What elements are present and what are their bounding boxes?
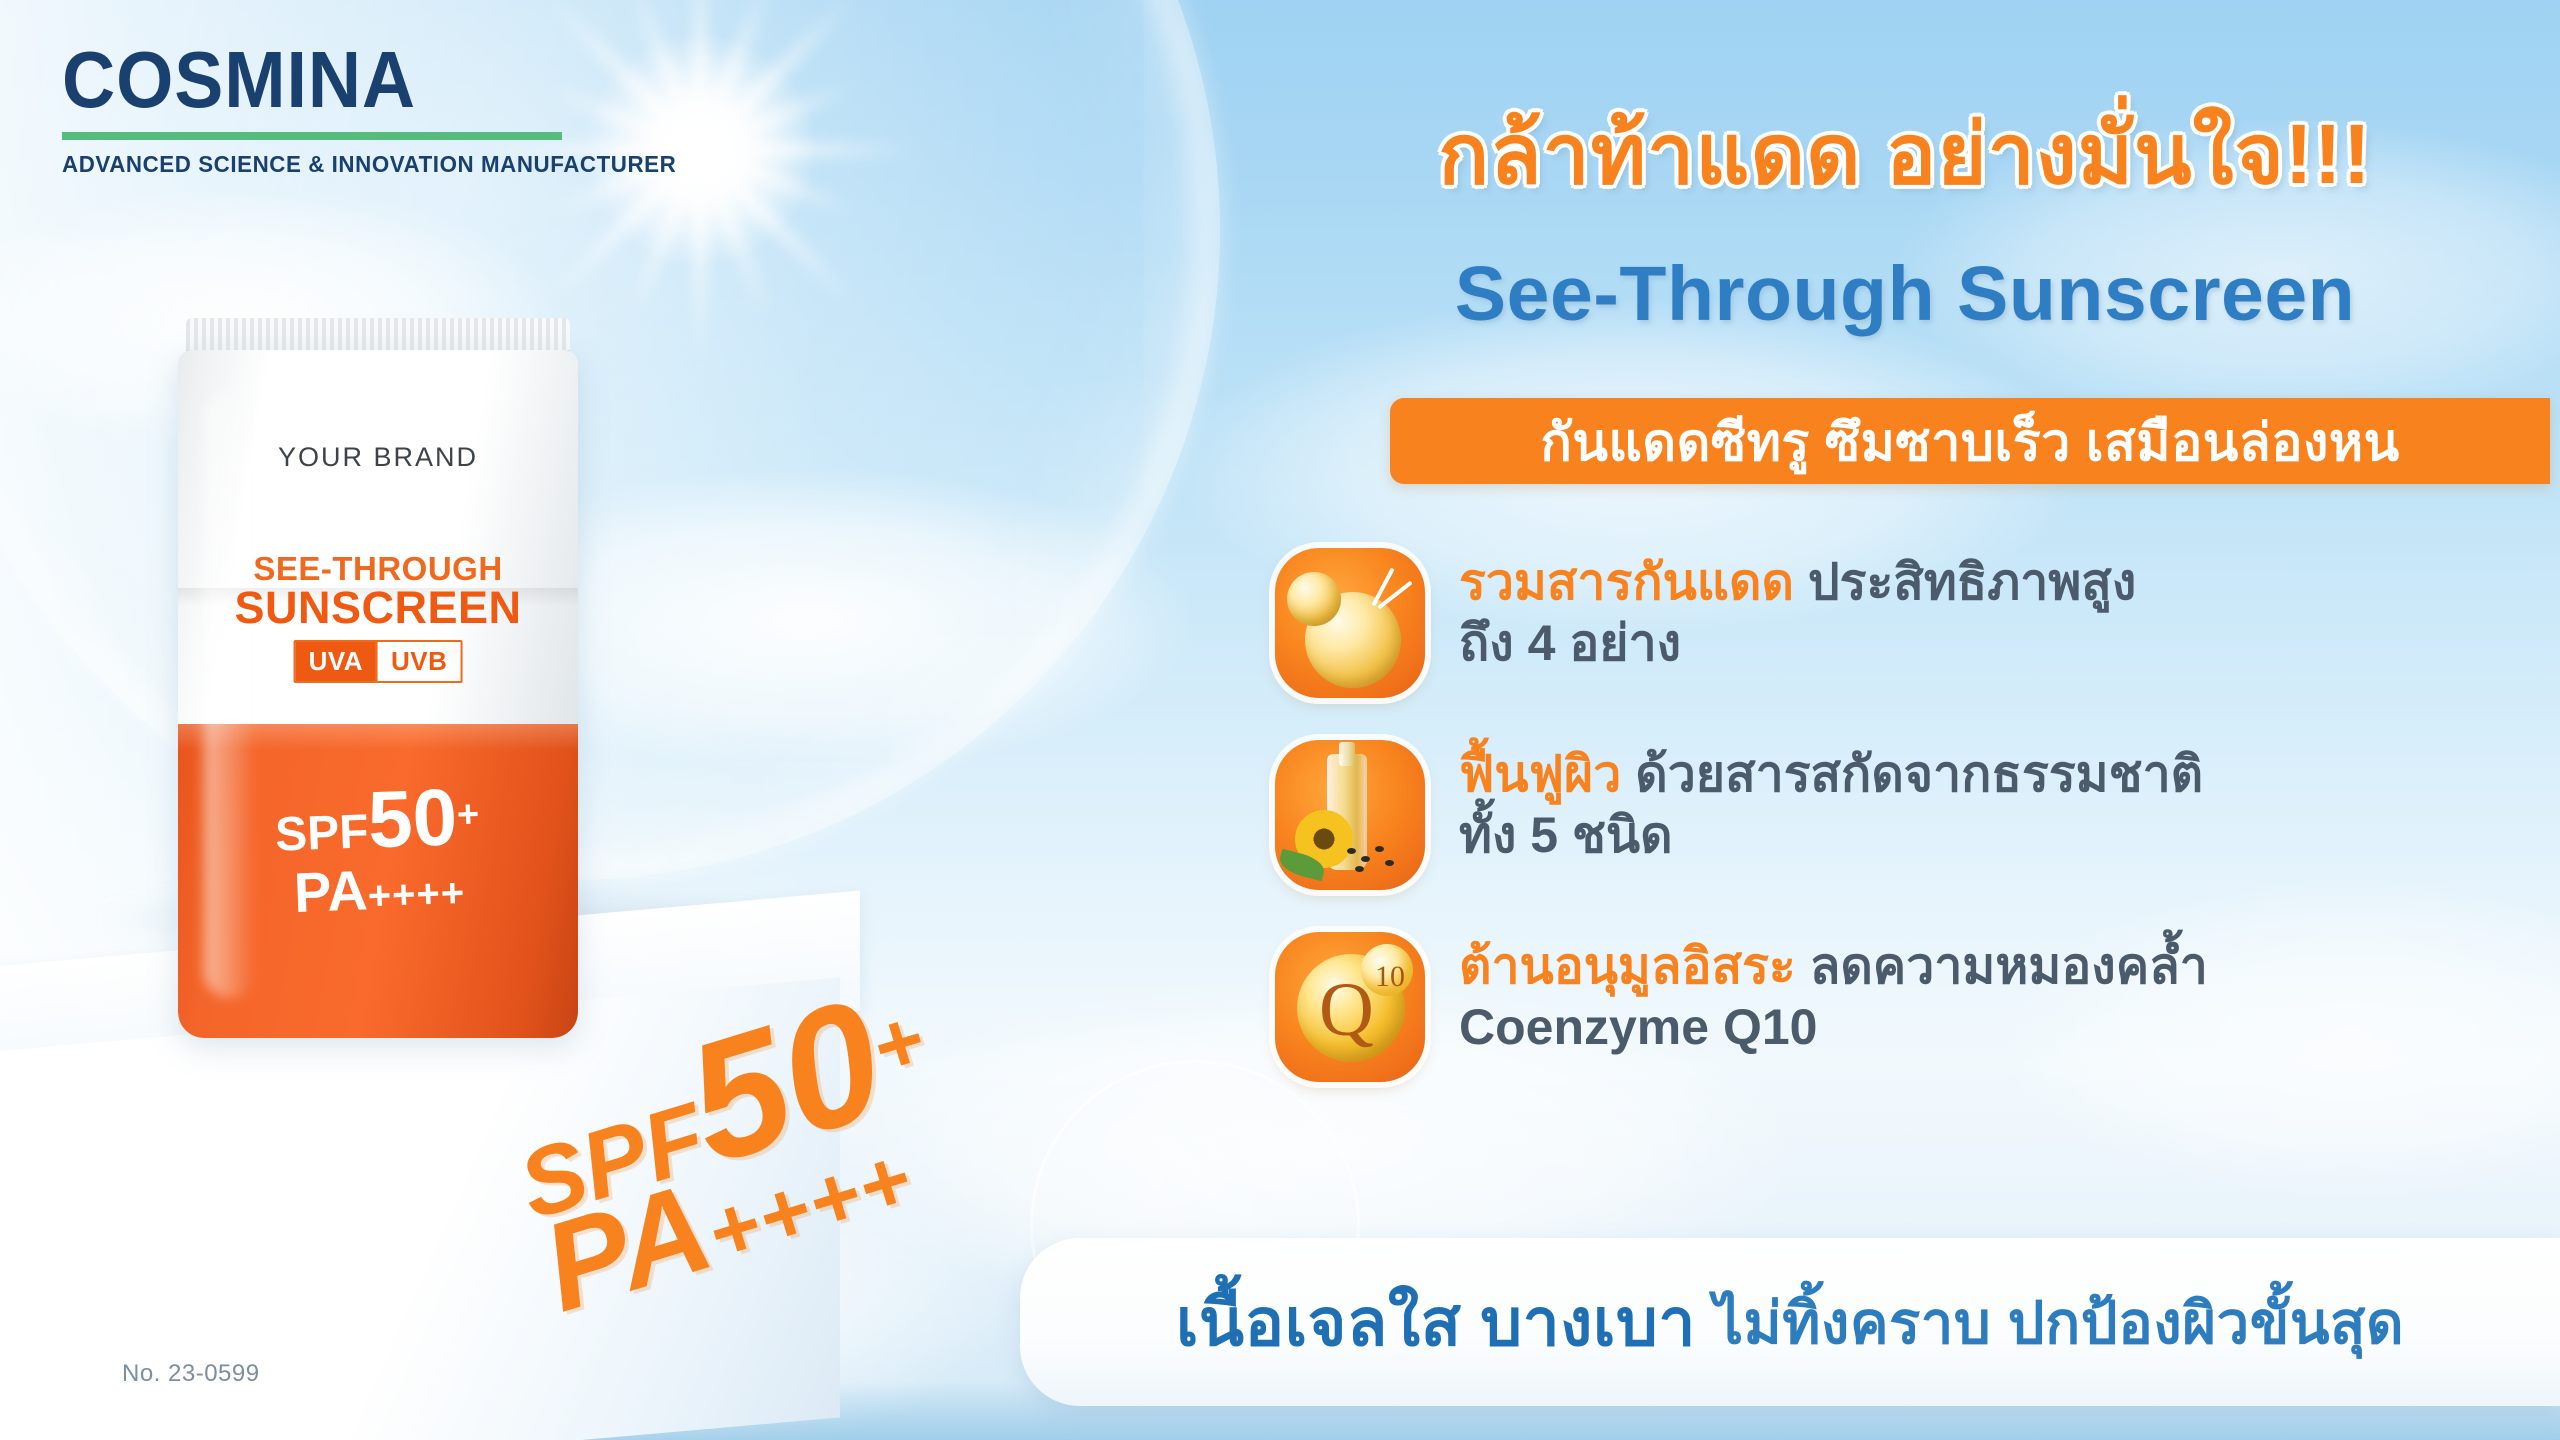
sunflower-oil-bottle-icon [1275, 740, 1425, 890]
oil-bottle-neck [1339, 742, 1355, 766]
bottom-claim-emphasis: เนื้อเจลใส บางเบา [1176, 1270, 1696, 1375]
brand-tagline: ADVANCED SCIENCE & INNOVATION MANUFACTUR… [62, 151, 537, 178]
feature-line2: ถึง 4 อย่าง [1459, 613, 2560, 674]
uva-label: UVA [296, 642, 376, 681]
tube-product-name-line2: SUNSCREEN [178, 582, 578, 634]
feature-item: รวมสารกันแดด ประสิทธิภาพสูง ถึง 4 อย่าง [1275, 548, 2560, 698]
tube-spf-plus: + [456, 793, 480, 836]
tube-spf-label: SPF [274, 805, 369, 861]
uv-protection-badge: UVA UVB [294, 640, 463, 683]
tube-crimp-cap [186, 318, 570, 352]
feature-text: ต้านอนุมูลอิสระ ลดความหมองคล้ำ Coenzyme … [1459, 932, 2560, 1058]
feature-list: รวมสารกันแดด ประสิทธิภาพสูง ถึง 4 อย่าง [1275, 548, 2560, 1124]
sun-core [585, 35, 815, 265]
feature-rest: ประสิทธิภาพสูง [1794, 554, 2136, 610]
orange-tagline-text: กันแดดซีทรู ซึมซาบเร็ว เสมือนล่องหน [1540, 400, 2399, 483]
droplet-small [1287, 572, 1341, 626]
seed [1355, 866, 1364, 872]
feature-text: ฟื้นฟูผิว ด้วยสารสกัดจากธรรมชาติ ทั้ง 5 … [1459, 740, 2560, 866]
feature-rest: ลดความหมองคล้ำ [1796, 938, 2208, 994]
seed [1385, 860, 1394, 866]
feature-text: รวมสารกันแดด ประสิทธิภาพสูง ถึง 4 อย่าง [1459, 548, 2560, 674]
headline-thai: กล้าท้าแดด อย่างมั่นใจ!!! [1250, 108, 2560, 200]
seed [1375, 846, 1384, 852]
feature-rest: ด้วยสารสกัดจากธรรมชาติ [1621, 746, 2203, 802]
seeds-cluster [1345, 844, 1401, 878]
subheading-english: See-Through Sunscreen [1250, 250, 2560, 339]
bottom-claim-banner: เนื้อเจลใส บางเบา ไม่ทิ้งคราบ ปกป้องผิวข… [1020, 1238, 2560, 1406]
seed [1361, 856, 1370, 862]
product-tube: YOUR BRAND SEE-THROUGH SUNSCREEN UVA UVB… [178, 318, 578, 1038]
brand-logo: COSMINA ADVANCED SCIENCE & INNOVATION MA… [62, 40, 562, 178]
coenzyme-q10-capsule-icon: Q 10 [1275, 932, 1425, 1082]
feature-item: ฟื้นฟูผิว ด้วยสารสกัดจากธรรมชาติ ทั้ง 5 … [1275, 740, 2560, 890]
bottom-claim-rest: ไม่ทิ้งคราบ ปกป้องผิวขั้นสุด [1714, 1276, 2404, 1369]
uv-filter-droplets-icon [1275, 548, 1425, 698]
uvb-label: UVB [376, 642, 460, 681]
orange-tagline-bar: กันแดดซีทรู ซึมซาบเร็ว เสมือนล่องหน [1390, 398, 2550, 484]
feature-highlight: ฟื้นฟูผิว [1459, 746, 1621, 802]
marketing-content: กล้าท้าแดด อย่างมั่นใจ!!! See-Through Su… [1230, 0, 2560, 1440]
logo-divider-bar [62, 132, 562, 140]
reference-number: No. 23-0599 [122, 1360, 260, 1388]
feature-line2: ทั้ง 5 ชนิด [1459, 805, 2560, 866]
tube-spf-value: 50 [367, 772, 459, 864]
tube-pa-plus: ++++ [367, 871, 466, 918]
seed [1347, 848, 1356, 854]
tube-pa-label: PA [293, 858, 369, 924]
feature-highlight: ต้านอนุมูลอิสระ [1459, 938, 1796, 994]
q-letter: Q [1319, 972, 1374, 1048]
feature-line2: Coenzyme Q10 [1459, 997, 2560, 1058]
feature-item: Q 10 ต้านอนุมูลอิสระ ลดความหมองคล้ำ Coen… [1275, 932, 2560, 1082]
feature-highlight: รวมสารกันแดด [1459, 554, 1794, 610]
brand-name: COSMINA [62, 40, 522, 120]
tube-spf-block: SPF50+ PA++++ [178, 773, 578, 925]
q10-number: 10 [1375, 960, 1405, 994]
tube-body: YOUR BRAND SEE-THROUGH SUNSCREEN UVA UVB… [178, 350, 578, 1038]
tube-brand-placeholder: YOUR BRAND [178, 442, 578, 473]
